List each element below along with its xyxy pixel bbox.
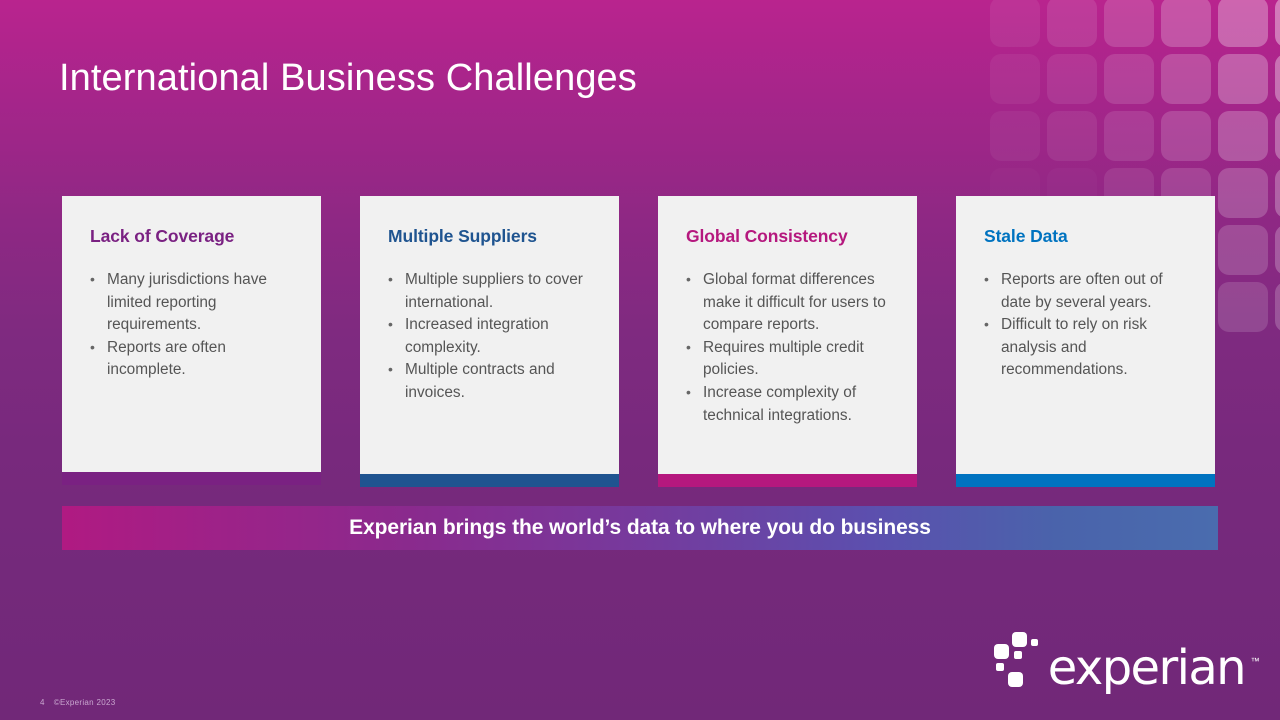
list-item: Multiple contracts and invoices. [388,359,597,404]
card-accent-bar [658,474,917,487]
card-bullet-list: Global format differences make it diffic… [686,269,895,427]
card-accent-bar [956,474,1215,487]
tagline-banner: Experian brings the world’s data to wher… [62,506,1218,550]
card-heading: Multiple Suppliers [388,226,597,247]
list-item: Difficult to rely on risk analysis and r… [984,314,1193,382]
card-heading: Lack of Coverage [90,226,299,247]
card-body: Multiple Suppliers Multiple suppliers to… [360,196,619,474]
card-bullet-list: Multiple suppliers to cover internationa… [388,269,597,405]
card-body: Lack of Coverage Many jurisdictions have… [62,196,321,472]
card-heading: Global Consistency [686,226,895,247]
challenge-cards: Lack of Coverage Many jurisdictions have… [62,196,1218,487]
experian-wordmark: experian ™ [1048,644,1245,692]
card-bullet-list: Many jurisdictions have limited reportin… [90,269,299,382]
card-bullet-list: Reports are often out of date by several… [984,269,1193,382]
footer: 4©Experian 2023 [40,698,115,707]
card-body: Stale Data Reports are often out of date… [956,196,1215,474]
list-item: Multiple suppliers to cover internationa… [388,269,597,314]
experian-dot-matrix-icon [994,630,1046,692]
card-global-consistency: Global Consistency Global format differe… [658,196,917,487]
list-item: Requires multiple credit policies. [686,337,895,382]
card-multiple-suppliers: Multiple Suppliers Multiple suppliers to… [360,196,619,487]
list-item: Many jurisdictions have limited reportin… [90,269,299,337]
page-title: International Business Challenges [59,57,637,100]
copyright-text: ©Experian 2023 [54,698,116,707]
trademark-icon: ™ [1251,637,1258,685]
list-item: Global format differences make it diffic… [686,269,895,337]
list-item: Increased integration complexity. [388,314,597,359]
card-stale-data: Stale Data Reports are often out of date… [956,196,1215,487]
list-item: Increase complexity of technical integra… [686,382,895,427]
card-accent-bar [360,474,619,487]
card-lack-of-coverage: Lack of Coverage Many jurisdictions have… [62,196,321,487]
card-heading: Stale Data [984,226,1193,247]
slide: International Business Challenges Lack o… [0,0,1280,720]
list-item: Reports are often out of date by several… [984,269,1193,314]
list-item: Reports are often incomplete. [90,337,299,382]
tagline-text: Experian brings the world’s data to wher… [349,516,931,540]
wordmark-text: experian [1048,640,1245,696]
card-accent-bar [62,472,321,485]
experian-logo: experian ™ [994,632,1245,692]
card-body: Global Consistency Global format differe… [658,196,917,474]
page-number: 4 [40,698,45,707]
